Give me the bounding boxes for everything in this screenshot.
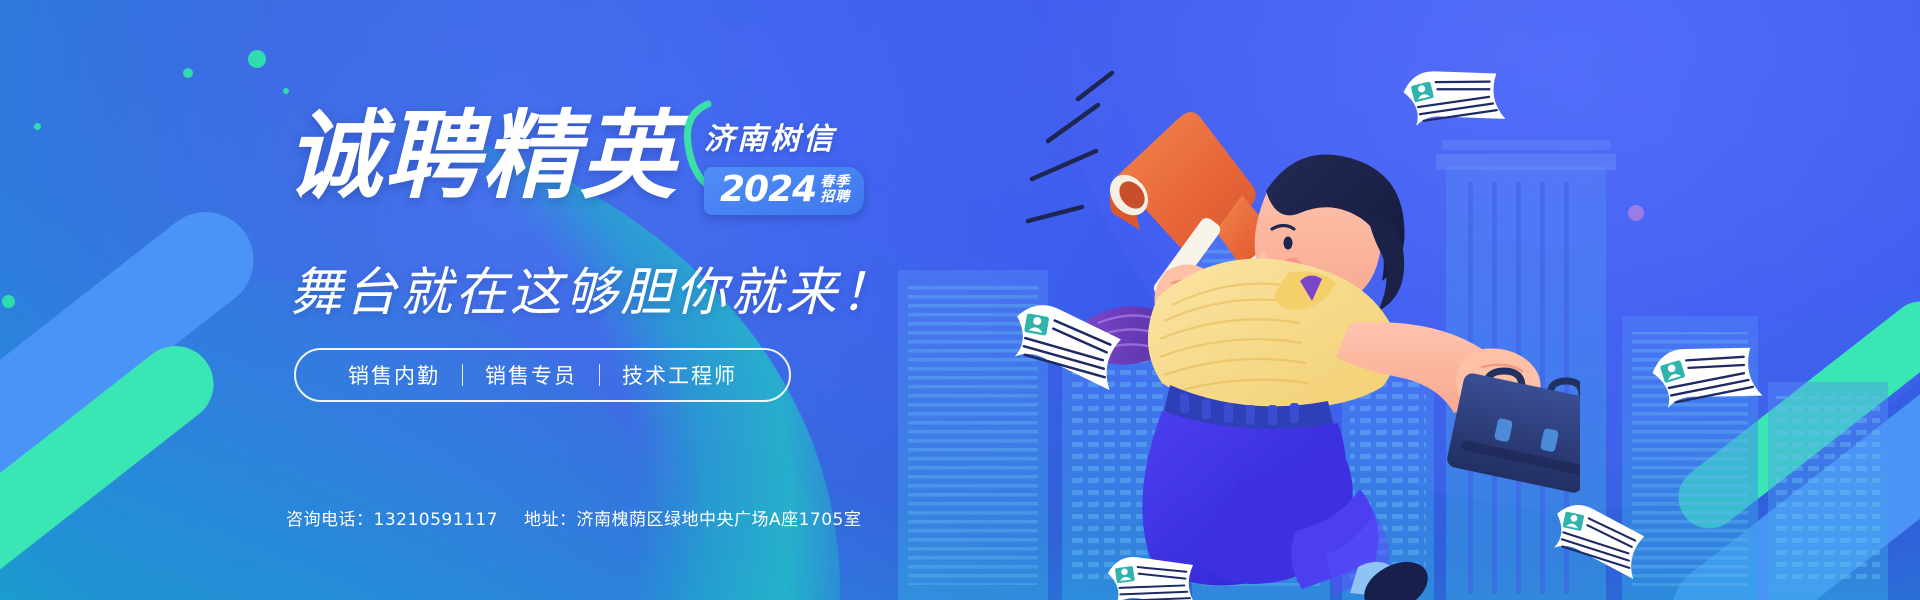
contact-phone: 咨询电话：13210591117 [286,505,498,530]
legs [1142,411,1389,595]
badge-subtext: 春季 招聘 [820,175,850,205]
brand-badge-group: 济南树信 2024 春季 招聘 [692,108,864,215]
job-tag-1[interactable]: 销售内勤 [326,360,462,390]
badge-year: 2024 [720,172,816,208]
decor-dot [248,50,266,68]
badge-line-1: 春季 [820,175,850,190]
contact-address: 地址：济南槐荫区绿地中央广场A座1705室 [524,505,861,530]
megaphone-sound-lines [1028,73,1112,221]
page-title: 诚聘精英 [286,108,678,206]
contact-info: 咨询电话：13210591117 地址：济南槐荫区绿地中央广场A座1705室 [286,505,861,530]
briefcase-icon [1446,371,1580,494]
decor-dot [2,295,15,308]
recruitment-season-badge: 2024 春季 招聘 [704,167,864,215]
page-subtitle: 舞台就在这够胆你就来！ [290,250,895,325]
recruitment-banner: 诚聘精英 济南树信 2024 春季 招聘 舞台就在这够胆你就来！ 销售内勤 销 [0,0,1920,600]
company-name: 济南树信 [692,114,864,158]
decor-dot [183,68,193,78]
banner-content: 诚聘精英 济南树信 2024 春季 招聘 舞台就在这够胆你就来！ 销售内勤 销 [286,0,946,600]
headline-row: 诚聘精英 济南树信 2024 春季 招聘 [286,108,864,215]
hero-illustration [1020,55,1580,600]
job-tag-3[interactable]: 技术工程师 [600,360,759,390]
decor-dot [34,123,41,130]
badge-line-2: 招聘 [820,190,850,205]
job-tag-2[interactable]: 销售专员 [463,360,599,390]
job-tags-pill: 销售内勤 销售专员 技术工程师 [294,348,791,402]
